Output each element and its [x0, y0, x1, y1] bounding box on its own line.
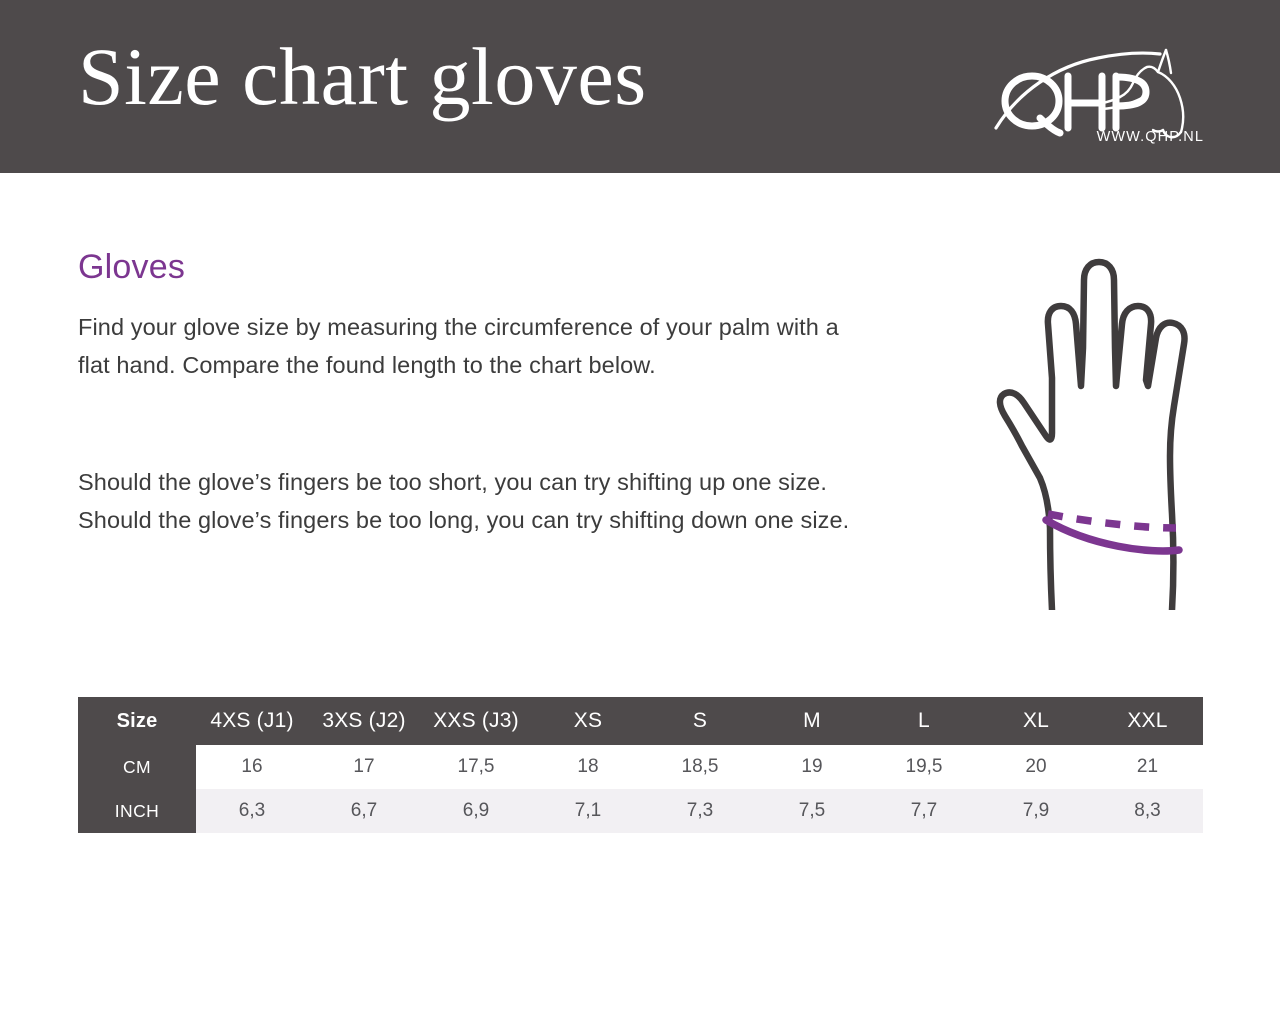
column-header-xl: XL	[980, 697, 1092, 745]
cell-cm-xl: 20	[980, 745, 1092, 789]
cell-inch-xxl: 8,3	[1092, 789, 1203, 833]
column-header-xxs: XXS (J3)	[420, 697, 532, 745]
page-title: Size chart gloves	[78, 33, 647, 122]
cell-inch-xxs: 6,9	[420, 789, 532, 833]
hand-illustration	[900, 228, 1240, 610]
cell-inch-s: 7,3	[644, 789, 756, 833]
cell-cm-xxl: 21	[1092, 745, 1203, 789]
cell-cm-s: 18,5	[644, 745, 756, 789]
cell-cm-4xs: 16	[196, 745, 308, 789]
column-header-l: L	[868, 697, 980, 745]
table-row-inch: INCH 6,3 6,7 6,9 7,1 7,3 7,5 7,7 7,9 8,3	[78, 789, 1203, 833]
cell-inch-l: 7,7	[868, 789, 980, 833]
column-header-xs: XS	[532, 697, 644, 745]
cell-cm-m: 19	[756, 745, 868, 789]
cell-cm-l: 19,5	[868, 745, 980, 789]
fit-advice-paragraph: Should the glove’s fingers be too short,…	[78, 463, 868, 539]
cell-cm-xxs: 17,5	[420, 745, 532, 789]
column-header-s: S	[644, 697, 756, 745]
cell-cm-3xs: 17	[308, 745, 420, 789]
size-chart-table: Size 4XS (J1) 3XS (J2) XXS (J3) XS S M L…	[78, 697, 1203, 833]
brand-url: WWW.QHP.NL	[1097, 129, 1204, 145]
cell-inch-m: 7,5	[756, 789, 868, 833]
cell-inch-xl: 7,9	[980, 789, 1092, 833]
column-header-m: M	[756, 697, 868, 745]
column-header-xxl: XXL	[1092, 697, 1203, 745]
hand-outline-icon	[900, 228, 1240, 610]
cell-inch-xs: 7,1	[532, 789, 644, 833]
table-row-cm: CM 16 17 17,5 18 18,5 19 19,5 20 21	[78, 745, 1203, 789]
intro-paragraph: Find your glove size by measuring the ci…	[78, 308, 868, 384]
row-label-inch: INCH	[78, 789, 196, 833]
column-header-size: Size	[78, 697, 196, 745]
brand-logo: WWW.QHP.NL	[990, 36, 1206, 146]
column-header-4xs: 4XS (J1)	[196, 697, 308, 745]
table-header-row: Size 4XS (J1) 3XS (J2) XXS (J3) XS S M L…	[78, 697, 1203, 745]
page-header: Size chart gloves	[0, 0, 1280, 173]
cell-inch-4xs: 6,3	[196, 789, 308, 833]
cell-cm-xs: 18	[532, 745, 644, 789]
row-label-cm: CM	[78, 745, 196, 789]
cell-inch-3xs: 6,7	[308, 789, 420, 833]
section-heading: Gloves	[78, 248, 185, 287]
column-header-3xs: 3XS (J2)	[308, 697, 420, 745]
